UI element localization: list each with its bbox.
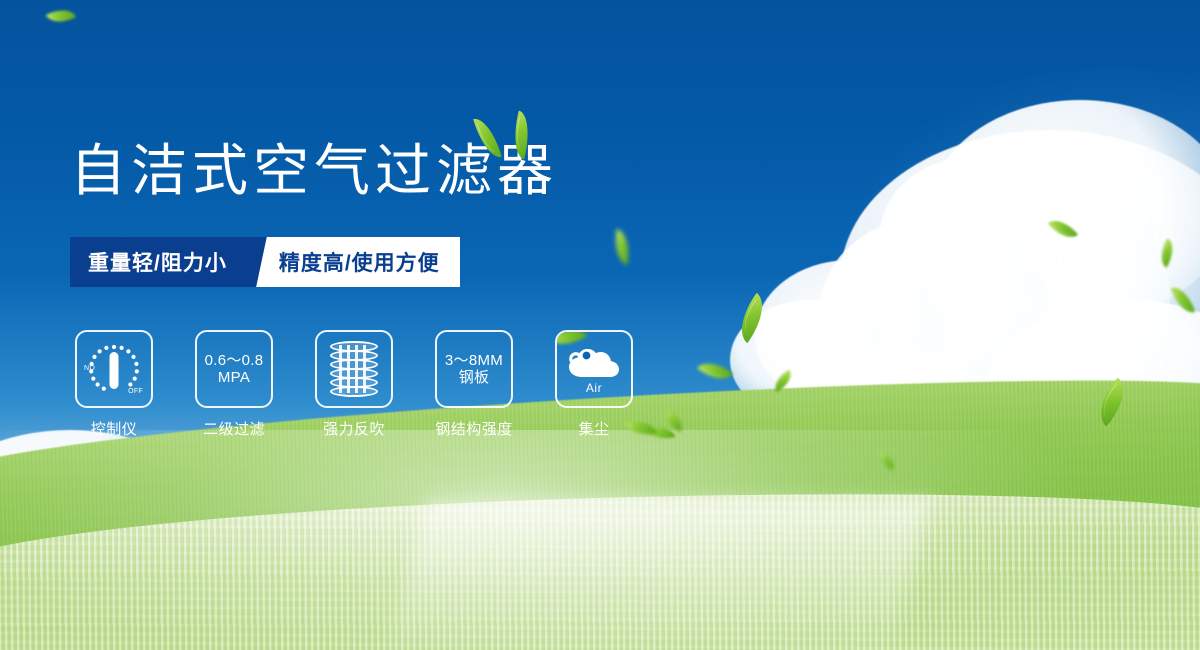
filter-cartridge-icon [330,341,378,397]
feature-icon-box: 3～8MM 钢板 [435,330,513,408]
page-title: 自洁式空气过滤器 [70,142,558,202]
subtitle-separator [249,237,275,287]
feature-item[interactable]: NO OFF 控制仪 [70,330,158,439]
steel-value-line2: 钢板 [459,369,490,386]
title-block: 自洁式空气过滤器 [70,142,558,202]
feature-label: 二级过滤 [203,418,265,439]
feature-label: 强力反吹 [323,418,385,439]
hero-banner: 自洁式空气过滤器 重量轻/阻力小 精度高/使用方便 [0,0,1200,650]
subtitle-right: 精度高/使用方便 [275,237,460,287]
air-label: Air [586,381,602,395]
feature-label: 钢结构强度 [435,418,513,439]
dial-off-label: OFF [128,388,143,395]
dial-indicator [110,352,119,389]
air-cloud-icon [566,344,622,378]
feature-item[interactable]: 强力反吹 [310,330,398,439]
feature-icon-box: NO OFF [75,330,153,408]
subtitle-bar: 重量轻/阻力小 精度高/使用方便 [70,237,460,287]
feature-label: 集尘 [578,418,609,439]
pressure-value-line2: MPA [218,369,250,386]
dial-on-label: NO [84,365,95,372]
feature-icon-box: Air [555,330,633,408]
control-dial-icon: NO OFF [83,338,145,400]
pressure-value-line1: 0.6～0.8 [205,352,264,369]
feature-list: NO OFF 控制仪 0.6～0.8 MPA 二级过滤 [70,330,638,439]
feature-item[interactable]: 0.6～0.8 MPA 二级过滤 [190,330,278,439]
feature-label: 控制仪 [91,418,138,439]
grass-path [389,500,930,650]
feature-item[interactable]: 3～8MM 钢板 钢结构强度 [430,330,518,439]
feature-item[interactable]: Air 集尘 [550,330,638,439]
subtitle-left: 重量轻/阻力小 [70,237,257,287]
feature-icon-box [315,330,393,408]
feature-icon-box: 0.6～0.8 MPA [195,330,273,408]
steel-value-line1: 3～8MM [445,352,503,369]
